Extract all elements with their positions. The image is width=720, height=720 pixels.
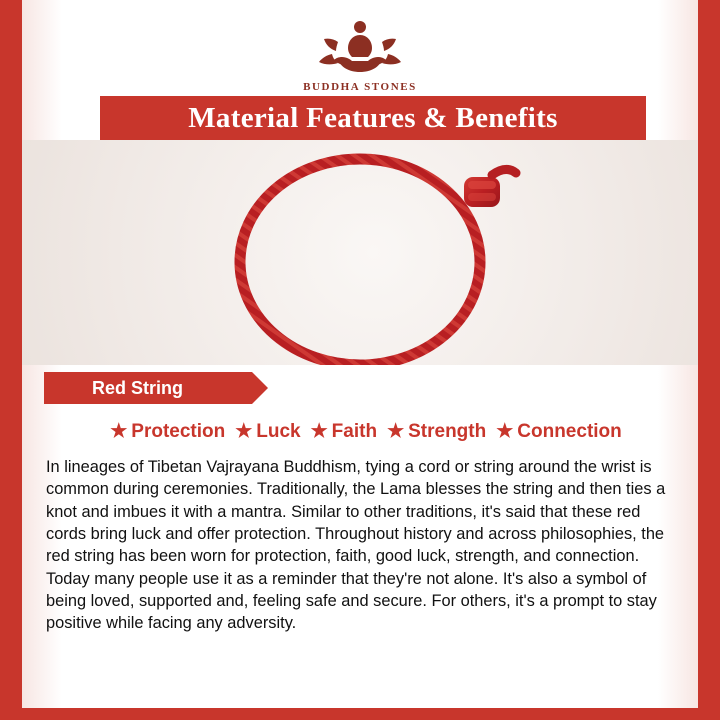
benefit-item: ★ Connection	[490, 420, 622, 443]
benefit-label: Luck	[256, 421, 300, 443]
benefit-item: ★ Faith	[305, 420, 377, 443]
benefits-row: ★ Protection ★ Luck ★ Faith ★ Strength ★…	[38, 420, 688, 443]
frame-bottom	[0, 708, 720, 720]
star-icon: ★	[387, 420, 404, 443]
content-area: BUDDHA STONES Material Features & Benefi…	[22, 0, 698, 708]
benefit-label: Protection	[131, 421, 225, 443]
frame-right-top	[698, 0, 720, 300]
frame-left-bottom	[0, 300, 22, 720]
benefit-label: Strength	[408, 421, 486, 443]
red-string-bracelet-illustration	[22, 140, 698, 365]
frame-left-top	[0, 0, 22, 300]
star-icon: ★	[496, 420, 513, 443]
benefit-item: ★ Luck	[229, 420, 300, 443]
product-label: Red String	[44, 378, 183, 399]
benefit-item: ★ Strength	[381, 420, 486, 443]
frame-right-bottom	[698, 300, 720, 720]
brand-logo: BUDDHA STONES	[22, 14, 698, 93]
product-image	[22, 140, 698, 365]
lotus-meditation-icon	[22, 14, 698, 78]
benefit-label: Connection	[517, 421, 622, 443]
brand-name: BUDDHA STONES	[22, 81, 698, 93]
benefit-item: ★ Protection	[104, 420, 225, 443]
star-icon: ★	[311, 420, 328, 443]
benefit-label: Faith	[332, 421, 377, 443]
star-icon: ★	[110, 420, 127, 443]
page-title: Material Features & Benefits	[188, 102, 557, 135]
page-title-band: Material Features & Benefits	[100, 96, 646, 140]
description-text: In lineages of Tibetan Vajrayana Buddhis…	[26, 456, 694, 635]
star-icon: ★	[235, 420, 252, 443]
product-label-tab: Red String	[44, 372, 252, 404]
product-image-backdrop	[22, 140, 698, 365]
infographic-page: BUDDHA STONES Material Features & Benefi…	[0, 0, 720, 720]
